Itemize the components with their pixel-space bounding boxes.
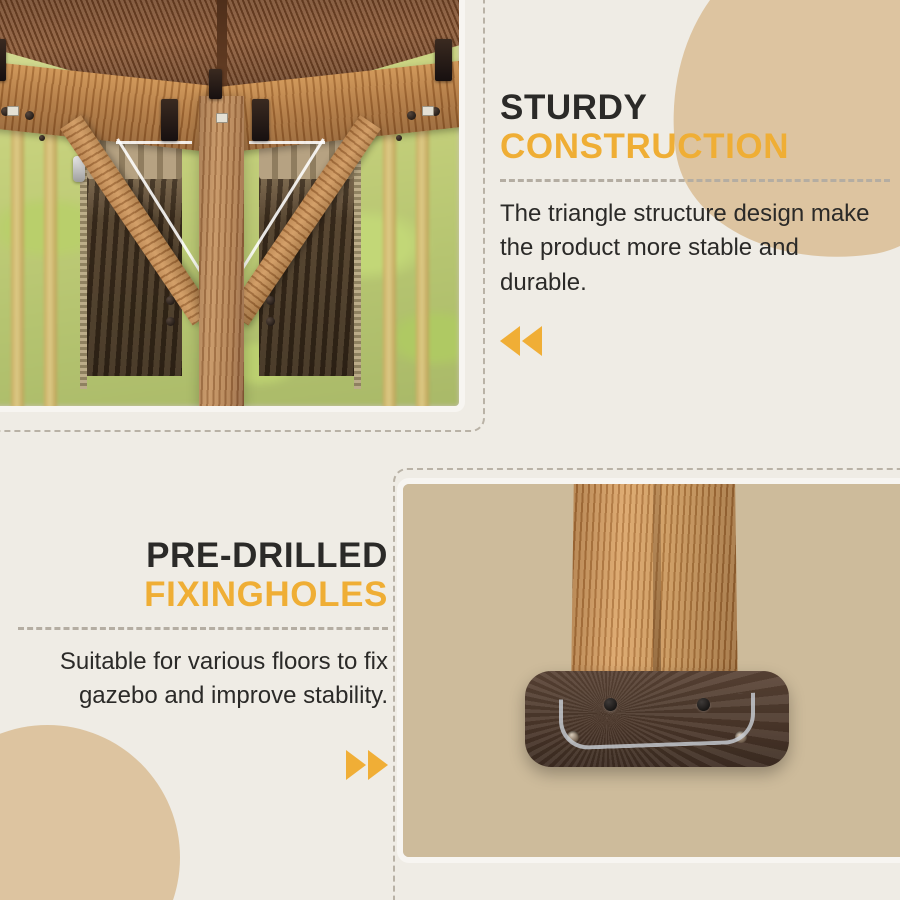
photo-frame-pre-drilled-fixing-holes: [393, 468, 900, 900]
heading-line-1: STURDY: [500, 88, 890, 127]
rewind-double-left-arrow-icon: [500, 326, 890, 356]
screw: [604, 698, 617, 711]
metal-bracket: [252, 99, 269, 141]
fixing-hole: [735, 731, 747, 743]
photo-sturdy-construction: [0, 0, 465, 412]
feature-block-pre-drilled-fixing-holes: PRE-DRILLED FIXINGHOLES Suitable for var…: [18, 536, 388, 780]
bolt: [39, 135, 45, 141]
triangle-right-icon: [346, 750, 366, 780]
bolt: [166, 317, 175, 326]
heading-line-2: FIXINGHOLES: [18, 575, 388, 614]
bamboo-stalk: [416, 126, 429, 412]
triangle-right-icon: [368, 750, 388, 780]
bamboo-stalk: [44, 126, 57, 412]
dashed-divider: [18, 627, 388, 630]
heading-line-2: CONSTRUCTION: [500, 127, 890, 166]
heading-line-1: PRE-DRILLED: [18, 536, 388, 575]
metal-bracket: [209, 69, 222, 99]
bamboo-stalk: [383, 126, 396, 412]
feature-body-text: The triangle structure design make the p…: [500, 197, 890, 299]
curtain-zipper-left: [80, 152, 87, 389]
bolt: [166, 296, 175, 305]
triangle-left-icon: [500, 326, 520, 356]
screw: [697, 698, 710, 711]
product-sticker: [216, 113, 228, 123]
metal-bracket: [435, 39, 452, 81]
feature-body-text: Suitable for various floors to fix gazeb…: [18, 645, 388, 713]
triangle-guide-base-right: [249, 141, 325, 144]
triangle-left-icon: [522, 326, 542, 356]
photo-frame-sturdy-construction: [0, 0, 485, 432]
dashed-divider: [500, 179, 890, 182]
metal-bracket: [161, 99, 178, 141]
bamboo-stalk: [11, 126, 24, 412]
post-base-plate-illustration: [403, 484, 900, 857]
gazebo-frame-illustration: [0, 0, 459, 406]
fast-forward-double-right-arrow-icon: [18, 750, 388, 780]
infographic-canvas: STURDY CONSTRUCTION The triangle structu…: [0, 0, 900, 900]
curtain-zipper-right: [354, 152, 361, 389]
fixing-hole: [567, 731, 579, 743]
gazebo-center-post: [199, 96, 244, 410]
triangle-guide-base-left: [116, 141, 192, 144]
metal-base-plate: [525, 671, 789, 768]
metal-bracket: [0, 39, 6, 81]
bolt: [396, 135, 402, 141]
feature-block-sturdy-construction: STURDY CONSTRUCTION The triangle structu…: [500, 88, 890, 356]
product-sticker: [422, 106, 434, 116]
product-sticker: [7, 106, 19, 116]
photo-pre-drilled-fixing-holes: [397, 478, 900, 863]
